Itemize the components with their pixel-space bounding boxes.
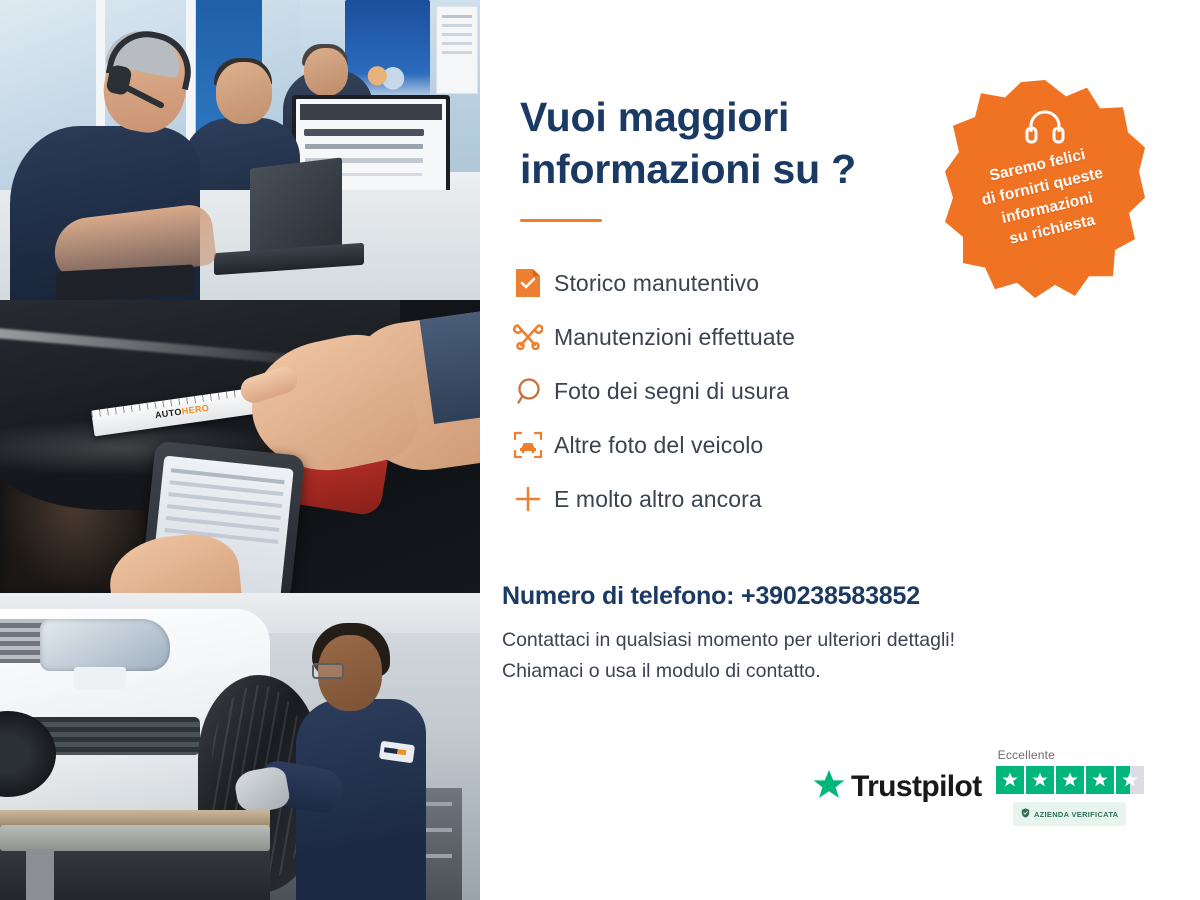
trustpilot-wordmark: Trustpilot — [851, 770, 982, 804]
headline-line-2: informazioni su ? — [520, 144, 950, 196]
title-divider — [520, 219, 602, 222]
star-filled — [1026, 766, 1054, 794]
license-plate-area — [74, 667, 126, 689]
star-half — [1116, 766, 1144, 794]
list-item: Altre foto del veicolo — [502, 418, 1200, 472]
star-filled — [996, 766, 1024, 794]
inspector-sleeve — [420, 310, 480, 424]
background-agent-head — [304, 48, 348, 96]
list-item-label: Storico manutentivo — [554, 270, 759, 297]
page-title: Vuoi maggiori informazioni su ? — [0, 92, 950, 195]
shield-check-icon — [1021, 805, 1030, 823]
contact-instructions: Contattaci in qualsiasi momento per ulte… — [502, 625, 1200, 687]
star-filled — [1056, 766, 1084, 794]
document-check-icon — [502, 268, 554, 298]
mechanic-wheel-photo — [0, 593, 480, 900]
list-item-label: Manutenzioni effettuate — [554, 324, 795, 351]
mechanic-glasses — [312, 663, 344, 679]
contact-line-1: Contattaci in qualsiasi momento per ulte… — [502, 625, 1200, 656]
trustpilot-star-icon — [812, 768, 846, 807]
logo-hero: HERO — [181, 403, 210, 417]
star-rating — [996, 766, 1144, 794]
status-badge: Saremo felici di fornirti queste informa… — [945, 80, 1145, 298]
desk-tablet — [56, 264, 194, 300]
trustpilot-rating: Eccellente — [996, 748, 1144, 826]
trustpilot-widget[interactable]: Trustpilot Eccellente — [812, 748, 1144, 826]
verified-badge: AZIENDA VERIFICATA — [1013, 802, 1126, 826]
car-headlight — [40, 619, 170, 671]
logo-auto: AUTO — [154, 407, 182, 421]
plus-icon — [502, 485, 554, 513]
star-filled — [1086, 766, 1114, 794]
list-item-label: Foto dei segni di usura — [554, 378, 789, 405]
magnifier-icon — [502, 376, 554, 406]
headline-line-1: Vuoi maggiori — [520, 92, 950, 144]
workbench-top — [0, 810, 270, 826]
verified-label: AZIENDA VERIFICATA — [1034, 810, 1118, 819]
list-item-label: E molto altro ancora — [554, 486, 762, 513]
rating-label: Eccellente — [998, 748, 1055, 762]
notice-board — [436, 6, 478, 94]
tools-icon — [502, 322, 554, 352]
phone-number[interactable]: Numero di telefono: +390238583852 — [502, 582, 1200, 611]
list-item-label: Altre foto del veicolo — [554, 432, 763, 459]
contact-line-2: Chiamaci o usa il modulo di contatto. — [502, 656, 1200, 687]
car-lift-arm — [0, 825, 270, 851]
contact-block: Numero di telefono: +390238583852 Contat… — [502, 582, 1200, 687]
promo-banner: AUTOHERO — [0, 0, 1200, 900]
list-item: Manutenzioni effettuate — [502, 310, 1200, 364]
car-lift-support — [26, 849, 54, 900]
headset-icon — [1023, 106, 1067, 151]
car-photo-frame-icon — [502, 430, 554, 460]
vehicle-inspection-ruler-photo: AUTOHERO — [0, 300, 480, 593]
list-item: E molto altro ancora — [502, 472, 1200, 526]
list-item: Foto dei segni di usura — [502, 364, 1200, 418]
trustpilot-logo[interactable]: Trustpilot — [812, 768, 982, 807]
